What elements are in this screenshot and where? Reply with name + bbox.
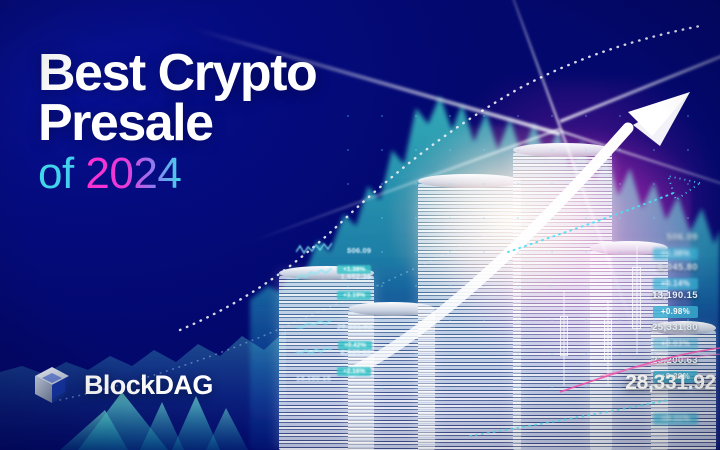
blockdag-cube-icon (32, 364, 72, 406)
brand-logo[interactable]: BlockDAG (32, 364, 213, 406)
crypto-presale-banner: Best Crypto Presale of 2024 506.09 +1.38… (0, 0, 720, 450)
brand-name: BlockDAG (84, 370, 213, 401)
